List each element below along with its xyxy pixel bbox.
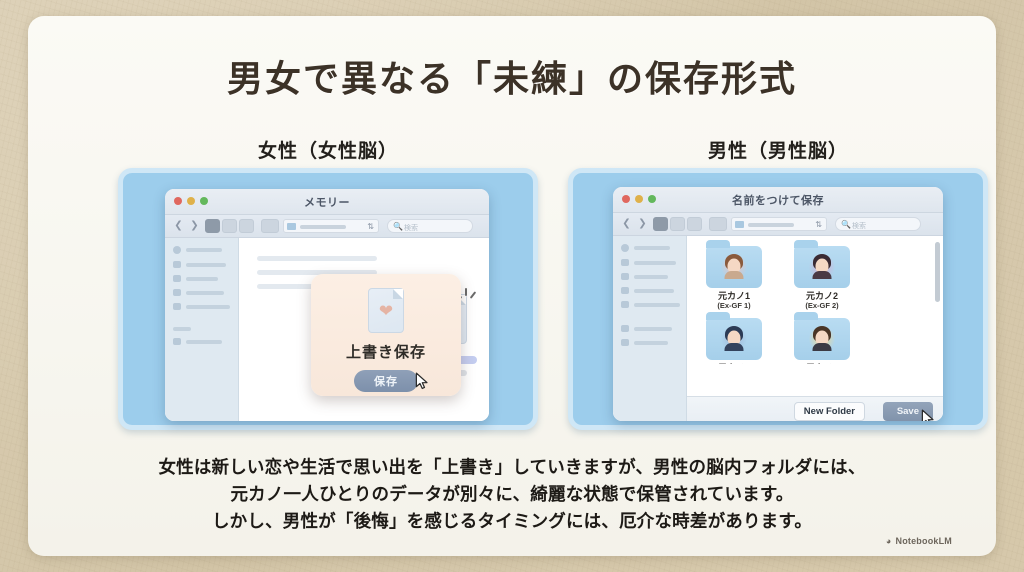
slide-root: 男女で異なる「未練」の保存形式 女性（女性脳） 男性（男性脳） メモリー ❮ <box>0 0 1024 572</box>
sidebar-item-label <box>634 341 668 345</box>
left-window-toolbar: ❮ ❯ ⇅ 🔍 <box>165 215 489 238</box>
right-section-heading: 男性（男性脳） <box>568 136 988 163</box>
sidebar-item-label <box>634 303 680 307</box>
left-search-placeholder: 検索 <box>404 223 418 233</box>
sidebar-item[interactable] <box>173 289 238 296</box>
forward-icon[interactable]: ❯ <box>188 219 201 233</box>
path-selector[interactable]: ⇅ <box>283 219 379 233</box>
caption-line-3: しかし、男性が「後悔」を感じるタイミングには、厄介な時差があります。 <box>78 508 946 535</box>
chevron-updown-icon[interactable]: ⇅ <box>815 221 822 229</box>
left-sidebar[interactable] <box>165 238 239 421</box>
folder-grid-viewport: 元カノ1 (Ex-GF 1) <box>687 236 943 364</box>
view-mode-buttons[interactable] <box>653 217 727 231</box>
folder-label: 元カノ4 <box>789 363 855 364</box>
column-view-icon[interactable] <box>239 219 254 233</box>
airdrop-icon <box>173 246 181 254</box>
avatar-body <box>813 271 832 279</box>
back-icon[interactable]: ❮ <box>620 217 633 231</box>
sidebar-item[interactable] <box>621 339 686 346</box>
folder-icon <box>735 221 744 228</box>
right-illustration-panel: 名前をつけて保存 ❮ ❯ <box>568 168 988 430</box>
sidebar-item[interactable] <box>621 325 686 332</box>
nav-buttons[interactable]: ❮ ❯ <box>172 219 201 233</box>
folder-icon <box>287 223 296 230</box>
sidebar-item[interactable] <box>173 275 238 282</box>
folder-icon[interactable] <box>794 318 850 360</box>
caption-block: 女性は新しい恋や生活で思い出を「上書き」していきますが、男性の脳内フォルダには、… <box>78 454 946 535</box>
sidebar-item-label <box>634 289 674 293</box>
sidebar-item[interactable] <box>621 287 686 294</box>
chevron-updown-icon[interactable]: ⇅ <box>367 223 374 231</box>
left-window-title: メモリー <box>165 194 489 210</box>
back-icon[interactable]: ❮ <box>172 219 185 233</box>
caption-line-1: 女性は新しい恋や生活で思い出を「上書き」していきますが、男性の脳内フォルダには、 <box>78 454 946 481</box>
path-text-placeholder <box>748 223 794 227</box>
sidebar-item-label <box>186 291 224 295</box>
tag-icon <box>621 339 629 346</box>
avatar <box>809 326 835 352</box>
left-window-content: ❤ ❤ <box>239 238 489 421</box>
icon-view-icon[interactable] <box>205 219 220 233</box>
folder-icon <box>173 303 181 310</box>
page-title: 男女で異なる「未練」の保存形式 <box>28 50 996 102</box>
sidebar-item-label <box>186 305 230 309</box>
left-illustration-panel: メモリー ❮ ❯ ⇅ <box>118 168 538 430</box>
column-view-icon[interactable] <box>687 217 702 231</box>
right-window-toolbar: ❮ ❯ ⇅ 🔍 <box>613 213 943 236</box>
watermark-label: NotebookLM <box>896 536 953 546</box>
sidebar-item[interactable] <box>621 244 686 252</box>
dialog-footer: New Folder Save <box>687 396 943 421</box>
right-sidebar[interactable] <box>613 236 687 421</box>
sidebar-section-header <box>173 327 238 331</box>
left-section-heading: 女性（女性脳） <box>118 136 538 163</box>
sidebar-item[interactable] <box>173 246 238 254</box>
sidebar-item-label <box>186 340 222 344</box>
placeholder-row <box>257 256 377 261</box>
left-window-body: ❤ ❤ <box>165 238 489 421</box>
folder-icon <box>621 301 629 308</box>
folder-item[interactable]: 元カノ2 (Ex-GF 2) <box>789 246 855 310</box>
airdrop-icon <box>621 244 629 252</box>
list-view-icon[interactable] <box>670 217 685 231</box>
caption-line-2: 元カノ一人ひとりのデータが別々に、綺麗な状態で保管されています。 <box>78 481 946 508</box>
right-window-title: 名前をつけて保存 <box>613 192 943 208</box>
forward-icon[interactable]: ❯ <box>636 217 649 231</box>
sidebar-divider <box>621 315 686 325</box>
sidebar-divider <box>173 317 238 327</box>
folder-label: 元カノ3 <box>701 363 767 364</box>
folder-label: 元カノ2 <box>789 291 855 301</box>
memory-finder-window: メモリー ❮ ❯ ⇅ <box>165 189 489 421</box>
folder-sublabel: (Ex-GF 2) <box>789 301 855 310</box>
folder-icon <box>173 289 181 296</box>
avatar <box>809 254 835 280</box>
avatar <box>721 326 747 352</box>
list-view-icon[interactable] <box>222 219 237 233</box>
new-folder-button[interactable]: New Folder <box>794 402 865 421</box>
nav-buttons[interactable]: ❮ ❯ <box>620 217 649 231</box>
sidebar-item-label <box>186 263 226 267</box>
sidebar-item-label <box>186 248 222 252</box>
save-as-finder-window: 名前をつけて保存 ❮ ❯ <box>613 187 943 421</box>
mouse-pointer-icon <box>921 409 935 421</box>
path-text-placeholder <box>300 225 346 229</box>
sidebar-item[interactable] <box>621 273 686 280</box>
folder-icon[interactable] <box>794 246 850 288</box>
notebooklm-icon: ◕ <box>886 536 892 546</box>
sidebar-section-label <box>173 327 191 331</box>
left-search-input[interactable]: 🔍 検索 <box>387 219 473 233</box>
avatar-body <box>725 271 744 279</box>
left-window-titlebar: メモリー <box>165 189 489 215</box>
folder-item[interactable]: 元カノ1 (Ex-GF 1) <box>701 246 767 310</box>
overwrite-save-dialog: ❤ 上書き保存 保存 <box>311 274 461 396</box>
sidebar-item-label <box>634 246 670 250</box>
right-window-content: 元カノ1 (Ex-GF 1) <box>687 236 943 421</box>
right-search-input[interactable]: 🔍 検索 <box>835 217 921 231</box>
avatar <box>721 254 747 280</box>
folder-icon[interactable] <box>706 246 762 288</box>
sidebar-item-label <box>634 275 668 279</box>
folder-icon <box>621 273 629 280</box>
sidebar-item-label <box>634 261 676 265</box>
group-by-icon[interactable] <box>261 219 279 233</box>
vertical-scrollbar[interactable] <box>935 242 940 302</box>
dialog-title: 上書き保存 <box>311 341 461 362</box>
folder-item[interactable]: 元カノ3 (Ex-GF 3) <box>701 318 767 364</box>
folder-icon[interactable] <box>706 318 762 360</box>
avatar-body <box>725 343 744 351</box>
folder-icon <box>173 275 181 282</box>
sidebar-item[interactable] <box>173 338 238 345</box>
sidebar-item-label <box>634 327 672 331</box>
tag-icon <box>621 325 629 332</box>
folder-grid: 元カノ1 (Ex-GF 1) <box>701 246 929 364</box>
sidebar-item[interactable] <box>173 261 238 268</box>
group-by-icon[interactable] <box>709 217 727 231</box>
search-icon: 🔍 <box>841 220 851 230</box>
folder-sublabel: (Ex-GF 1) <box>701 301 767 310</box>
mouse-pointer-icon <box>415 372 429 390</box>
heart-document-icon: ❤ <box>368 288 404 333</box>
slide-card: 男女で異なる「未練」の保存形式 女性（女性脳） 男性（男性脳） メモリー ❮ <box>28 16 996 556</box>
right-search-placeholder: 検索 <box>852 221 866 231</box>
sidebar-item-label <box>186 277 218 281</box>
folder-icon <box>173 261 181 268</box>
heart-icon: ❤ <box>379 303 393 320</box>
watermark: ◕ NotebookLM <box>886 536 952 546</box>
view-mode-buttons[interactable] <box>205 219 279 233</box>
icon-view-icon[interactable] <box>653 217 668 231</box>
right-window-titlebar: 名前をつけて保存 <box>613 187 943 213</box>
tag-icon <box>173 338 181 345</box>
avatar-body <box>813 343 832 351</box>
folder-label: 元カノ1 <box>701 291 767 301</box>
path-selector[interactable]: ⇅ <box>731 217 827 231</box>
sidebar-item[interactable] <box>621 259 686 266</box>
folder-icon <box>621 287 629 294</box>
overwrite-save-button[interactable]: 保存 <box>354 370 418 392</box>
search-icon: 🔍 <box>393 222 403 232</box>
sidebar-item[interactable] <box>621 301 686 308</box>
folder-icon <box>621 259 629 266</box>
folder-item[interactable]: 元カノ4 (Ex-GF 4) <box>789 318 855 364</box>
sidebar-item[interactable] <box>173 303 238 310</box>
right-window-body: 元カノ1 (Ex-GF 1) <box>613 236 943 421</box>
